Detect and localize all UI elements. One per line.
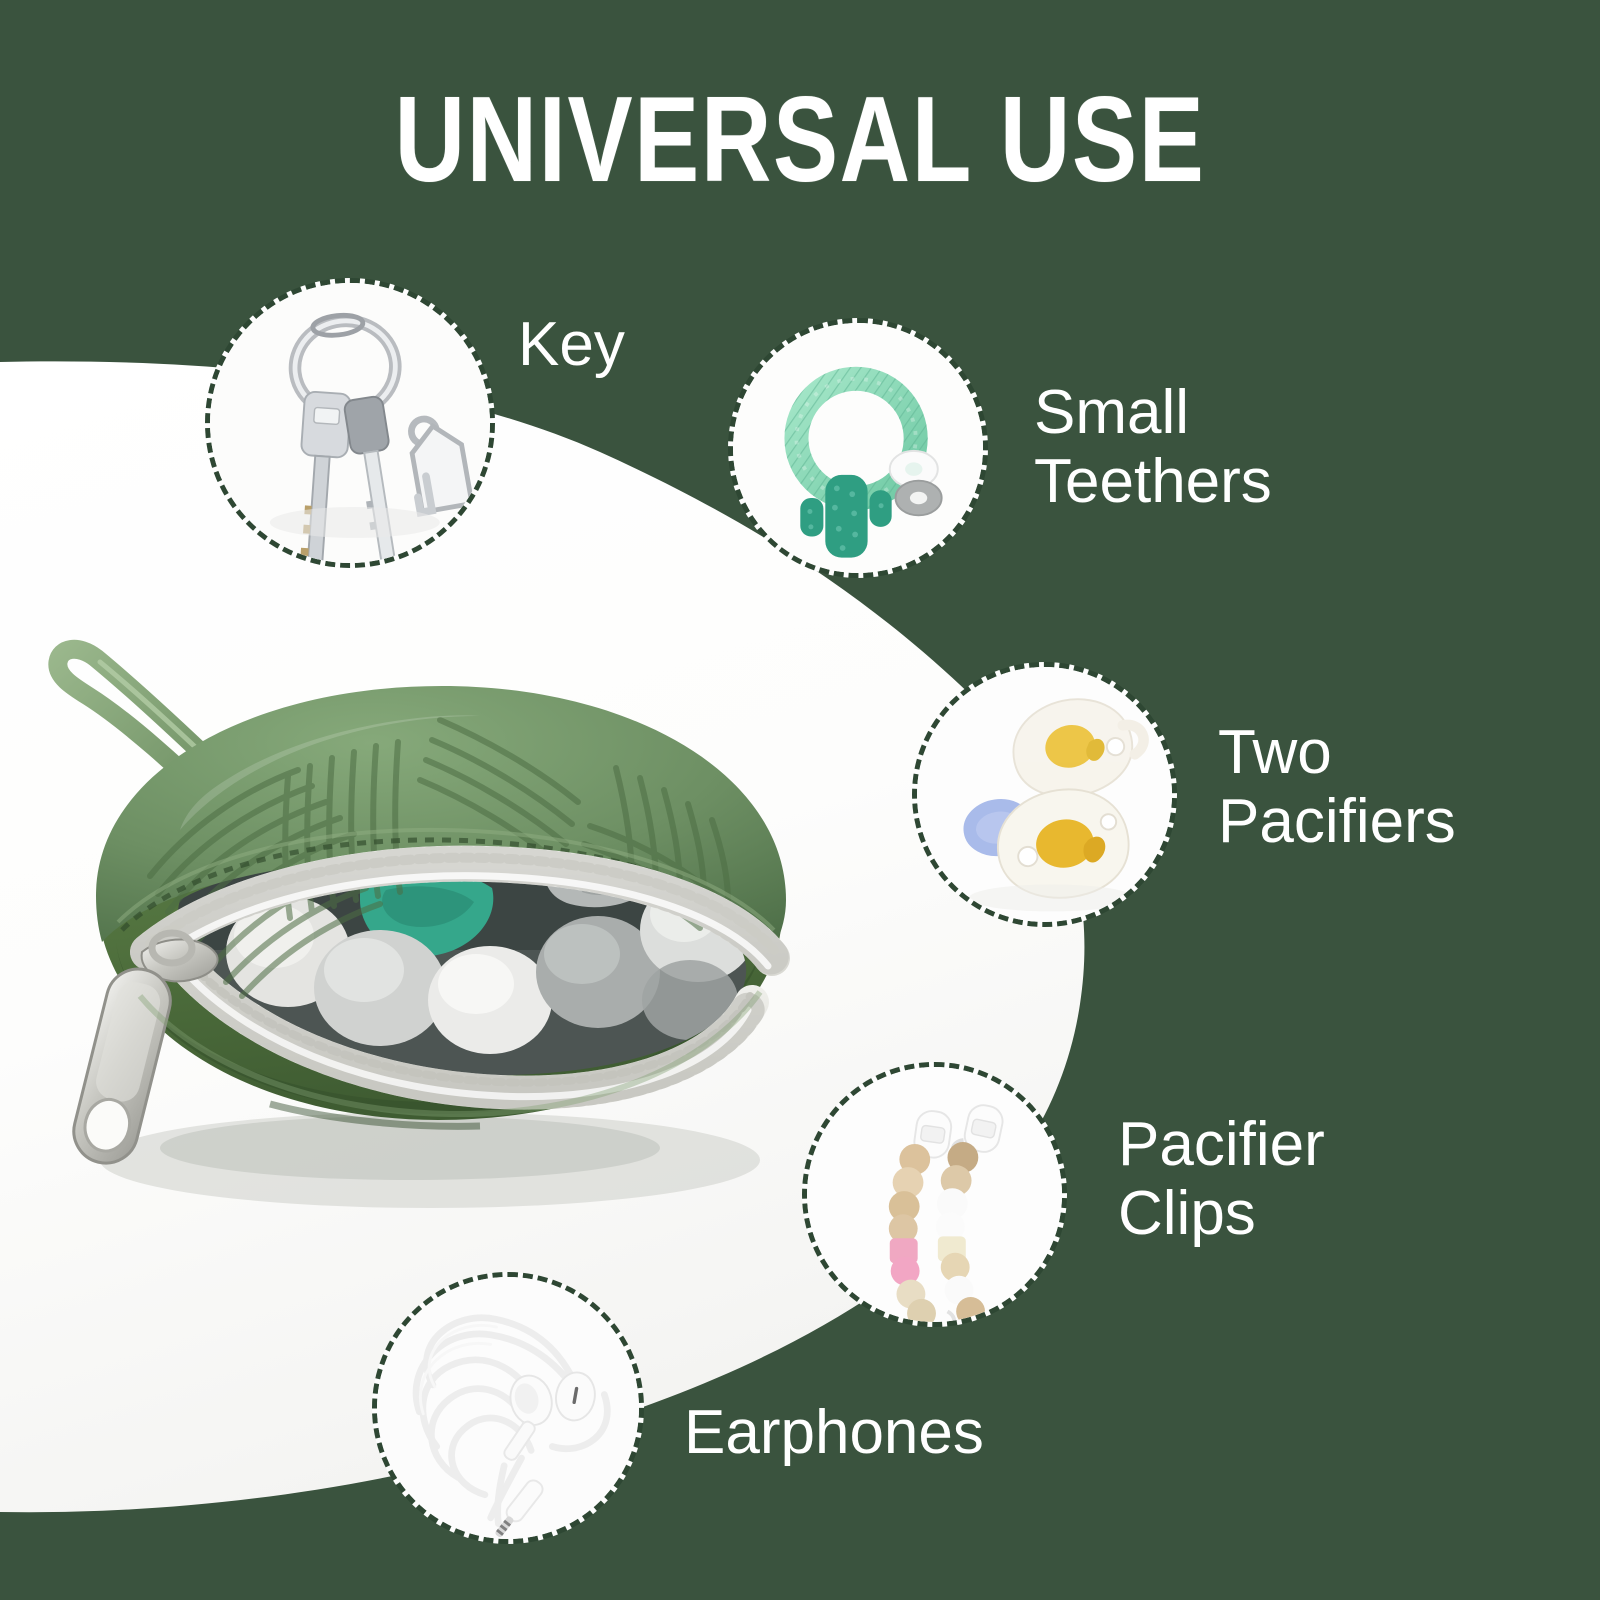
callout-circle-earphones bbox=[372, 1272, 644, 1544]
callout-circle-two-pacifiers bbox=[912, 662, 1177, 927]
infographic-canvas: UNIVERSAL USE bbox=[0, 0, 1600, 1600]
cactus-teether-ring-photo bbox=[733, 323, 983, 573]
callout-circle-key bbox=[205, 278, 495, 568]
callout-label-two-pacifiers: Two Pacifiers bbox=[1218, 718, 1456, 857]
callout-label-key: Key bbox=[518, 310, 625, 379]
keys-on-keyring-photo bbox=[210, 283, 490, 563]
coiled-earphones-photo bbox=[377, 1277, 639, 1539]
callout-label-pacifier-clips: Pacifier Clips bbox=[1118, 1110, 1325, 1249]
product-photo-silicone-pouch bbox=[30, 600, 850, 1220]
page-title: UNIVERSAL USE bbox=[160, 78, 1440, 200]
green-silicone-zip-pouch bbox=[30, 600, 850, 1220]
callout-circle-small-teethers bbox=[728, 318, 988, 578]
callout-label-small-teethers: Small Teethers bbox=[1034, 378, 1272, 517]
two-pacifiers-photo bbox=[917, 667, 1172, 922]
callout-label-earphones: Earphones bbox=[684, 1398, 984, 1467]
